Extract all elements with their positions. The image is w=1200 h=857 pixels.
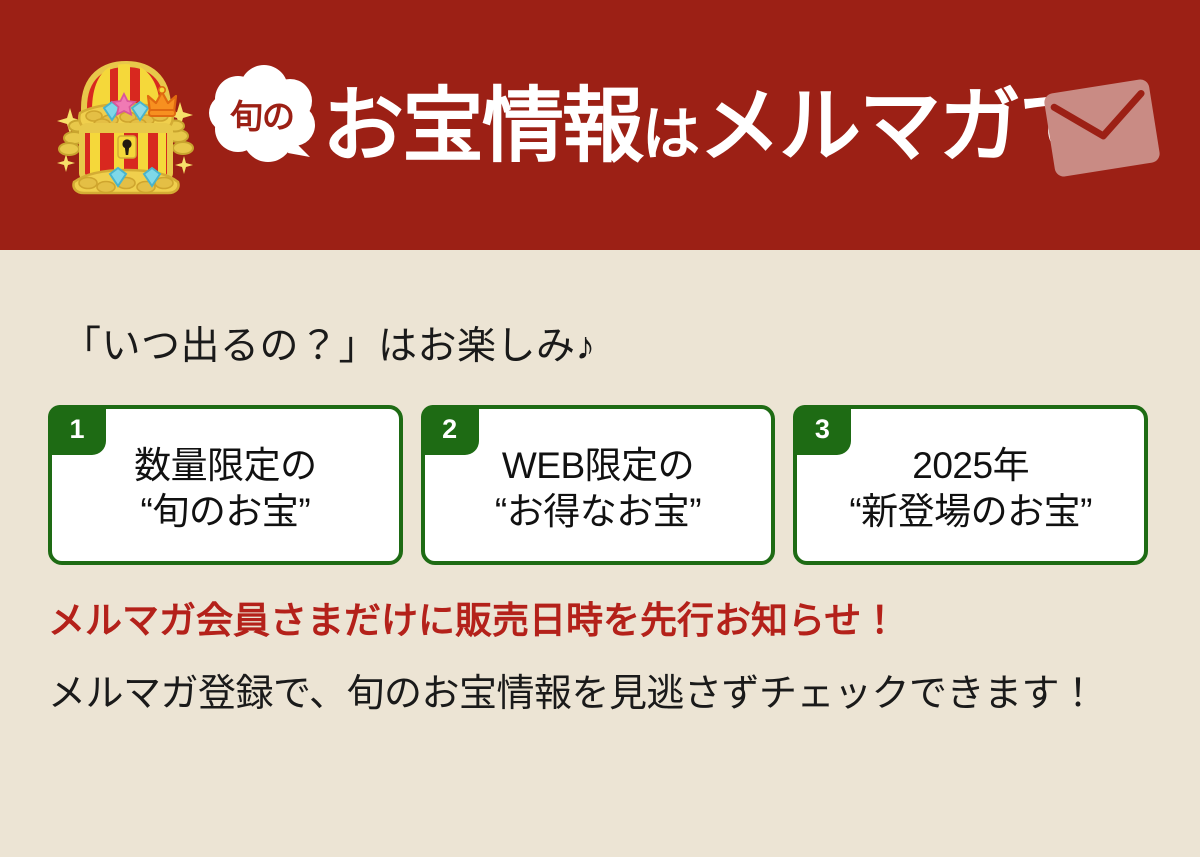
lead-text: 「いつ出るの？」はお楽しみ♪: [62, 315, 596, 371]
header-title-main: お宝情報: [322, 86, 642, 168]
mail-magazine-promo-banner: 旬の お宝情報 は メルマガで 「いつ出るの？」はお楽しみ♪ 1 数量限定の “…: [0, 0, 1200, 857]
speech-bubble-label: 旬の: [206, 65, 318, 163]
banner-body: 「いつ出るの？」はお楽しみ♪ 1 数量限定の “旬のお宝” 2 WEB限定の “…: [0, 250, 1200, 857]
header-title-tail: メルマガで: [699, 86, 1099, 168]
header-title: お宝情報 は メルマガで: [322, 86, 1099, 168]
feature-box-line1: 2025年: [912, 444, 1029, 488]
treasure-chest-icon: [52, 50, 200, 200]
feature-box-line1: WEB限定の: [502, 444, 694, 488]
feature-box-line2: “新登場のお宝”: [849, 490, 1092, 534]
feature-box-3: 3 2025年 “新登場のお宝”: [793, 405, 1148, 565]
feature-box-number-badge: 3: [793, 405, 851, 455]
feature-box-list: 1 数量限定の “旬のお宝” 2 WEB限定の “お得なお宝” 3 2025年 …: [48, 405, 1148, 565]
header-content: 旬の お宝情報 は メルマガで: [52, 0, 1200, 250]
banner-header: 旬の お宝情報 は メルマガで: [0, 0, 1200, 250]
feature-box-number-badge: 2: [421, 405, 479, 455]
feature-box-number-badge: 1: [48, 405, 106, 455]
emphasis-text: メルマガ会員さまだけに販売日時を先行お知らせ！: [48, 590, 898, 644]
feature-box-line2: “旬のお宝”: [141, 490, 311, 534]
body-copy: メルマガ登録で、旬のお宝情報を見逃さずチェックできます！: [48, 665, 1158, 724]
speech-bubble: 旬の: [206, 65, 328, 177]
header-title-particle: は: [642, 106, 699, 164]
feature-box-1: 1 数量限定の “旬のお宝”: [48, 405, 403, 565]
feature-box-line2: “お得なお宝”: [495, 490, 701, 534]
feature-box-2: 2 WEB限定の “お得なお宝”: [421, 405, 776, 565]
feature-box-line1: 数量限定の: [134, 444, 317, 488]
envelope-icon: [1039, 74, 1164, 182]
